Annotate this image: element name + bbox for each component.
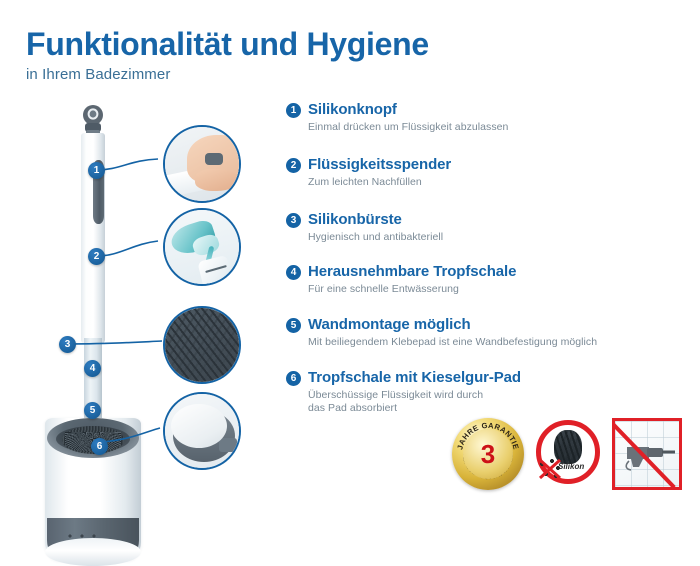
cross-out-icon	[538, 458, 562, 480]
product-image: 1 2 3 4 5 6	[20, 100, 170, 480]
feature-desc-6: Überschüssige Flüssigkeit wird durch das…	[308, 389, 521, 417]
product-marker-3: 3	[59, 336, 76, 353]
page-subtitle: in Ihrem Badezimmer	[26, 66, 429, 83]
antihaft-top-text: Anti-Haft	[548, 417, 594, 431]
feature-desc-5: Mit beiliegendem Klebepad ist eine Wandb…	[308, 336, 597, 350]
thumb-silicone-brush-photo	[165, 308, 239, 382]
feature-desc-3: Hygienisch und antibakteriell	[308, 231, 443, 245]
product-marker-4: 4	[84, 360, 101, 377]
thumb-drip-tray-pad	[163, 392, 241, 470]
feature-title-5: Wandmontage möglich	[308, 317, 597, 334]
thumb-silicone-button-photo	[165, 127, 239, 201]
feature-item-1: 1 Silikonknopf Einmal drücken um Flüssig…	[286, 102, 508, 134]
feature-title-6: Tropfschale mit Kieselgur-Pad	[308, 370, 521, 387]
feature-desc-1: Einmal drücken um Flüssigkeit abzulassen	[308, 121, 508, 135]
badge-row: JAHRE GARANTIE YEARS GUARANTEE 3 Silikon…	[446, 414, 686, 494]
feature-number-4: 4	[286, 265, 301, 280]
feature-title-3: Silikonbürste	[308, 212, 443, 229]
feature-item-4: 4 Herausnehmbare Tropfschale Für eine sc…	[286, 264, 516, 296]
infographic-canvas: Funktionalität und Hygiene in Ihrem Bade…	[0, 0, 700, 506]
feature-number-1: 1	[286, 103, 301, 118]
feature-title-1: Silikonknopf	[308, 102, 508, 119]
header: Funktionalität und Hygiene in Ihrem Bade…	[26, 28, 429, 83]
feature-item-2: 2 Flüssigkeitsspender Zum leichten Nachf…	[286, 157, 451, 189]
antihaft-silicone-badge: Silikon Anti-Haft	[530, 418, 604, 490]
feature-item-5: 5 Wandmontage möglich Mit beiliegendem K…	[286, 317, 597, 349]
page-title: Funktionalität und Hygiene	[26, 28, 429, 62]
product-marker-6: 6	[91, 438, 108, 455]
product-marker-1: 1	[88, 162, 105, 179]
feature-number-2: 2	[286, 158, 301, 173]
thumb-silicone-brush	[163, 306, 241, 384]
guarantee-seal-badge: JAHRE GARANTIE YEARS GUARANTEE 3	[452, 418, 524, 490]
feature-desc-2: Zum leichten Nachfüllen	[308, 176, 451, 190]
product-marker-2: 2	[88, 248, 105, 265]
product-marker-5: 5	[84, 402, 101, 419]
thumb-liquid-dispenser	[163, 208, 241, 286]
feature-number-5: 5	[286, 318, 301, 333]
thumb-silicone-button	[163, 125, 241, 203]
feature-item-6: 6 Tropfschale mit Kieselgur-Pad Überschü…	[286, 370, 521, 416]
feature-title-4: Herausnehmbare Tropfschale	[308, 264, 516, 281]
feature-desc-4: Für eine schnelle Entwässerung	[308, 283, 516, 297]
feature-number-6: 6	[286, 371, 301, 386]
guarantee-number: 3	[481, 441, 495, 467]
thumb-liquid-dispenser-photo	[165, 210, 239, 284]
feature-title-2: Flüssigkeitsspender	[308, 157, 451, 174]
thumb-drip-tray-pad-photo	[165, 394, 239, 468]
holder-base	[45, 538, 141, 566]
feature-item-3: 3 Silikonbürste Hygienisch und antibakte…	[286, 212, 443, 244]
no-drilling-badge	[612, 418, 682, 490]
guarantee-seal-inner: 3	[463, 429, 513, 479]
feature-number-3: 3	[286, 213, 301, 228]
